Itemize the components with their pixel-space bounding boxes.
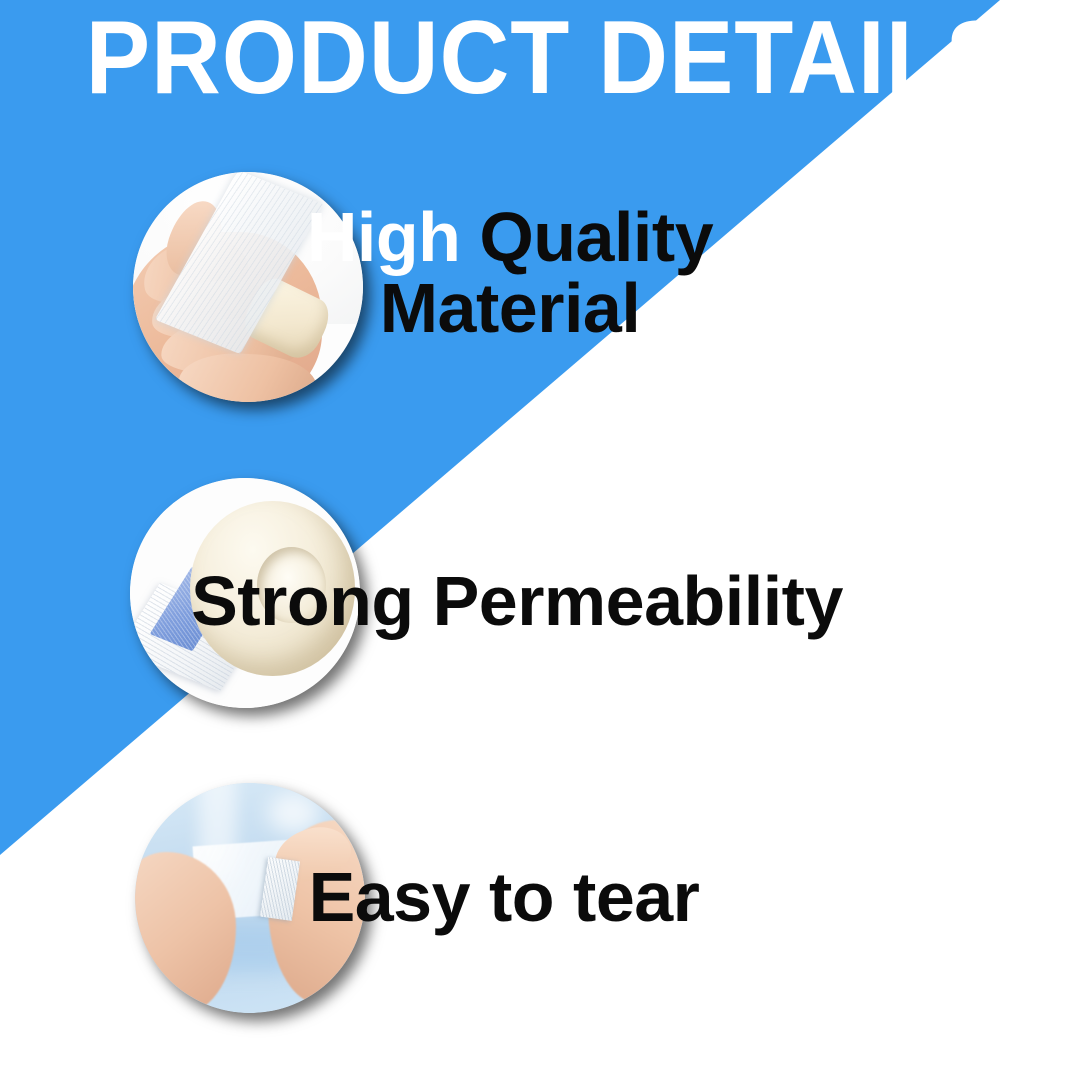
page-title: PRODUCT DETAILS (38, 6, 1042, 110)
caption-line-1: High Quality (0, 202, 1080, 273)
feature-caption-strong-permeability: Strong Permeability (0, 566, 1080, 637)
product-details-infographic: PRODUCT DETAILS High Quality Material St… (0, 0, 1080, 1080)
feature-caption-easy-to-tear: Easy to tear (0, 862, 1080, 933)
caption-word-high: High (307, 198, 461, 276)
caption-space (460, 198, 479, 276)
caption-word-quality: Quality (479, 198, 713, 276)
caption-line-2: Material (0, 273, 1080, 344)
feature-caption-high-quality-material: High Quality Material (0, 202, 1080, 345)
